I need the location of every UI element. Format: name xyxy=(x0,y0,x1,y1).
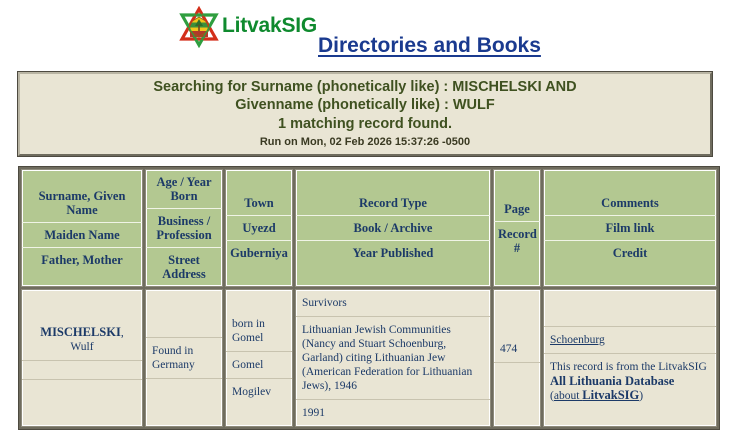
column-header-page-record: Page Record # xyxy=(493,169,541,287)
record-credit: This record is from the LitvakSIG All Li… xyxy=(544,353,716,409)
header-surname-given: Surname, Given Name xyxy=(22,184,142,222)
credit-prefix: This record is from the LitvakSIG xyxy=(550,360,710,374)
litvaksig-star-of-david-logo-icon xyxy=(178,6,220,48)
record-year-published: 1991 xyxy=(296,399,490,426)
header-father-mother: Father, Mother xyxy=(22,247,142,272)
page-title[interactable]: Directories and Books xyxy=(318,34,541,58)
record-uyezd: Gomel xyxy=(226,351,292,378)
match-count: 1 matching record found. xyxy=(278,114,452,134)
record-town: born in Gomel xyxy=(226,311,292,351)
about-link-brand: LitvakSIG xyxy=(582,388,639,402)
header-film-link: Film link xyxy=(544,215,716,240)
record-business-profession: Found in Germany xyxy=(146,337,222,378)
film-link-anchor[interactable]: Schoenburg xyxy=(550,334,605,346)
results-table: Surname, Given Name Maiden Name Father, … xyxy=(18,166,720,430)
header-record-number: Record # xyxy=(494,221,540,260)
record-film-link[interactable]: Schoenburg xyxy=(544,326,716,353)
credit-about-line: (about LitvakSIG) xyxy=(550,388,710,403)
record-maiden-name xyxy=(22,360,142,379)
header-comments: Comments xyxy=(544,191,716,215)
header-maiden-name: Maiden Name xyxy=(22,222,142,247)
column-header-comments: Comments Film link Credit xyxy=(543,169,717,287)
cell-age-profession: Found in Germany xyxy=(145,289,223,427)
header-guberniya: Guberniya xyxy=(226,240,292,265)
record-surname: MISCHELSKI xyxy=(40,325,121,339)
search-criteria-givenname: Givenname (phonetically like) : WULF xyxy=(235,96,494,114)
about-link-label: about xyxy=(554,390,582,402)
cell-record: Survivors Lithuanian Jewish Communities … xyxy=(295,289,491,427)
search-criteria-surname: Searching for Surname (phonetically like… xyxy=(153,78,576,96)
masthead: LitvakSIG Directories and Books xyxy=(0,0,730,62)
credit-paren-close: ) xyxy=(639,390,643,402)
cell-comments: Schoenburg This record is from the Litva… xyxy=(543,289,717,427)
header-record-type: Record Type xyxy=(296,191,490,215)
run-timestamp: Run on Mon, 02 Feb 2026 15:37:26 -0500 xyxy=(260,134,470,151)
column-header-record: Record Type Book / Archive Year Publishe… xyxy=(295,169,491,287)
brand-wordmark: LitvakSIG xyxy=(222,14,317,38)
table-header-row: Surname, Given Name Maiden Name Father, … xyxy=(21,169,717,287)
header-year-published: Year Published xyxy=(296,240,490,265)
cell-name: MISCHELSKI, Wulf xyxy=(21,289,143,427)
header-town: Town xyxy=(226,191,292,215)
about-link[interactable]: about LitvakSIG xyxy=(554,390,639,402)
record-surname-given: MISCHELSKI, Wulf xyxy=(22,319,142,360)
record-year-born xyxy=(146,319,222,337)
header-age-year-born: Age / Year Born xyxy=(146,170,222,208)
column-header-name: Surname, Given Name Maiden Name Father, … xyxy=(21,169,143,287)
record-page: 474 xyxy=(494,336,540,362)
record-number xyxy=(494,362,540,381)
header-credit: Credit xyxy=(544,240,716,265)
record-book-archive: Lithuanian Jewish Communities (Nancy and… xyxy=(296,316,490,399)
header-business-profession: Business / Profession xyxy=(146,208,222,247)
column-header-place: Town Uyezd Guberniya xyxy=(225,169,293,287)
column-header-age: Age / Year Born Business / Profession St… xyxy=(145,169,223,287)
header-book-archive: Book / Archive xyxy=(296,215,490,240)
record-comment xyxy=(544,308,716,326)
table-row: MISCHELSKI, Wulf Found in Germany born i… xyxy=(21,289,717,427)
credit-database-name: All Lithuania Database xyxy=(550,374,710,388)
search-summary-panel: Searching for Surname (phonetically like… xyxy=(18,72,712,156)
cell-page-record: 474 xyxy=(493,289,541,427)
record-street-address xyxy=(146,378,222,397)
cell-place: born in Gomel Gomel Mogilev xyxy=(225,289,293,427)
header-page: Page xyxy=(494,197,540,221)
record-type: Survivors xyxy=(296,290,490,316)
header-uyezd: Uyezd xyxy=(226,215,292,240)
header-street-address: Street Address xyxy=(146,247,222,286)
record-father-mother xyxy=(22,379,142,398)
record-guberniya: Mogilev xyxy=(226,378,292,405)
